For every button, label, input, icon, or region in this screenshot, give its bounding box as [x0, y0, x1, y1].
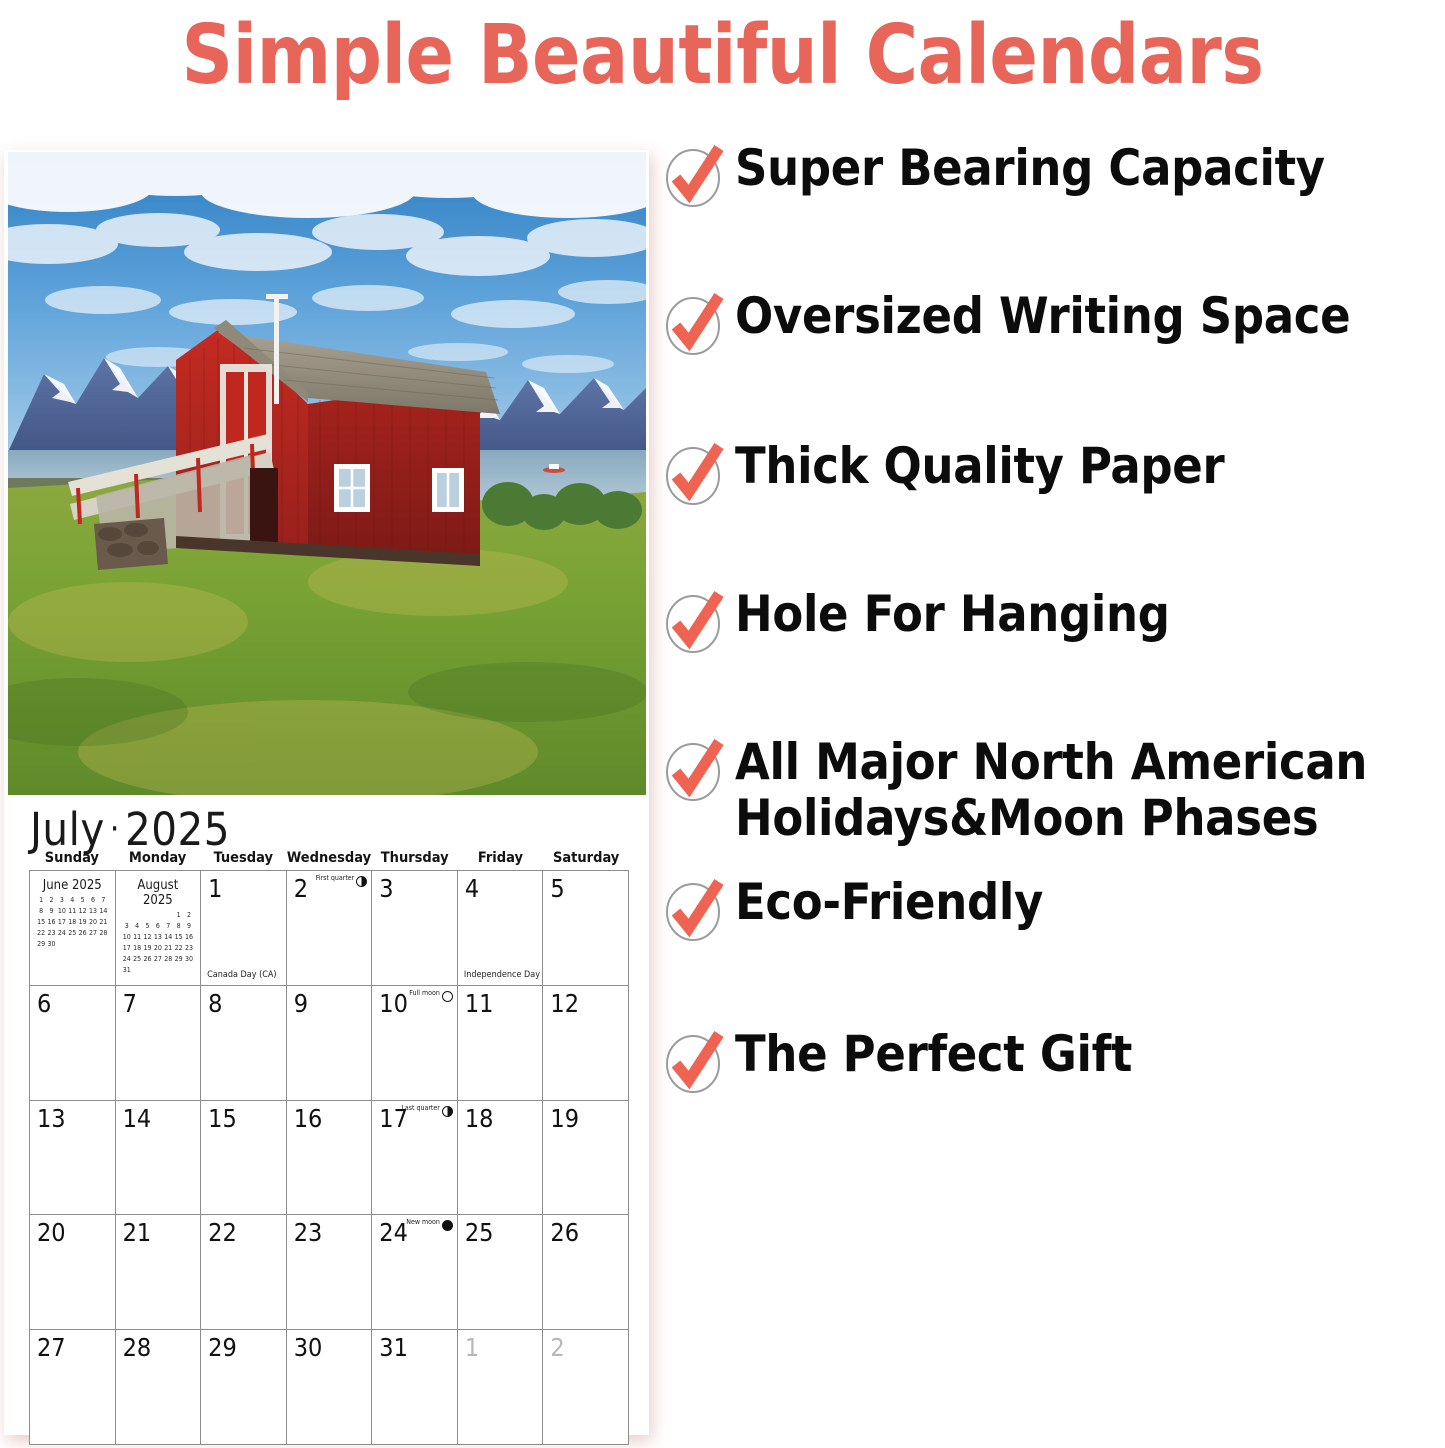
check-circle-icon [663, 878, 725, 942]
mini-day: 7 [98, 896, 108, 904]
calendar-day-cell[interactable]: 13 [30, 1101, 116, 1216]
mini-day: 24 [122, 955, 132, 963]
weekday-header-row: SundayMondayTuesdayWednesdayThursdayFrid… [29, 850, 629, 867]
moon-phase-marker: Last quarter [401, 1103, 452, 1117]
day-number: 26 [550, 1218, 579, 1247]
check-circle-icon [663, 738, 725, 802]
mini-day: 15 [36, 918, 46, 926]
feature-item: All Major North American Holidays&Moon P… [663, 734, 1445, 846]
feature-label: All Major North American Holidays&Moon P… [725, 734, 1367, 846]
calendar-day-cell[interactable]: 7 [116, 986, 202, 1101]
day-number: 5 [550, 874, 564, 903]
mini-day: 18 [67, 918, 77, 926]
moon-new-icon [442, 1220, 453, 1231]
mini-day: 28 [98, 929, 108, 937]
moon-phase-label: Last quarter [401, 1103, 439, 1112]
calendar-mini-cell[interactable]: August 2025 1234567891011121314151617181… [116, 871, 202, 986]
calendar-day-cell[interactable]: 9 [287, 986, 373, 1101]
mini-day: 10 [122, 933, 132, 941]
mini-day: 27 [88, 929, 98, 937]
calendar-day-cell[interactable]: 5 [543, 871, 629, 986]
day-number: 9 [294, 989, 308, 1018]
feature-label: Hole For Hanging [725, 586, 1170, 642]
mini-day: 13 [88, 907, 98, 915]
weekday-label-sunday: Sunday [29, 850, 115, 867]
mini-day: 14 [98, 907, 108, 915]
weekday-label-tuesday: Tuesday [200, 850, 286, 867]
day-number: 16 [294, 1104, 323, 1133]
day-number: 31 [379, 1333, 408, 1362]
mini-day: 4 [67, 896, 77, 904]
calendar-grid: June 20251234567891011121314151617181920… [29, 870, 629, 1445]
mini-blank [132, 911, 142, 919]
feature-list: Super Bearing CapacityOversized Writing … [663, 140, 1445, 1094]
check-circle-icon [663, 590, 725, 654]
mini-day: 15 [173, 933, 183, 941]
calendar-day-cell[interactable]: 4Independence Day [458, 871, 544, 986]
mini-day: 9 [184, 922, 194, 930]
day-number: 4 [465, 874, 479, 903]
calendar-day-cell[interactable]: 19 [543, 1101, 629, 1216]
calendar-day-cell[interactable]: 1Canada Day (CA) [201, 871, 287, 986]
calendar-day-cell[interactable]: 2 [543, 1330, 629, 1445]
calendar-day-cell[interactable]: 14 [116, 1101, 202, 1216]
day-number: 15 [208, 1104, 237, 1133]
calendar-mini-cell[interactable]: June 20251234567891011121314151617181920… [30, 871, 116, 986]
day-number: 25 [465, 1218, 494, 1247]
day-number: 20 [37, 1218, 66, 1247]
calendar-day-cell[interactable]: 26 [543, 1215, 629, 1330]
mini-month-title: August 2025 [122, 878, 195, 908]
weekday-label-saturday: Saturday [543, 850, 629, 867]
mini-day: 6 [88, 896, 98, 904]
day-number: 10 [379, 989, 408, 1018]
mini-month-title: June 2025 [36, 878, 109, 893]
calendar-day-cell[interactable]: 27 [30, 1330, 116, 1445]
calendar-day-cell[interactable]: 15 [201, 1101, 287, 1216]
day-number: 11 [465, 989, 494, 1018]
mini-day: 10 [57, 907, 67, 915]
mini-day: 5 [77, 896, 87, 904]
mini-day: 20 [153, 944, 163, 952]
mini-day: 23 [184, 944, 194, 952]
day-number: 29 [208, 1333, 237, 1362]
feature-item: The Perfect Gift [663, 1026, 1445, 1094]
mini-blank [122, 911, 132, 919]
feature-item: Hole For Hanging [663, 586, 1445, 654]
moon-full-icon [442, 991, 453, 1002]
weekday-label-wednesday: Wednesday [286, 850, 372, 867]
feature-label: Thick Quality Paper [725, 438, 1224, 494]
mini-day: 11 [67, 907, 77, 915]
calendar-day-cell[interactable]: 6 [30, 986, 116, 1101]
mini-blank [142, 911, 152, 919]
mini-day: 14 [163, 933, 173, 941]
mini-day: 24 [57, 929, 67, 937]
day-number: 21 [123, 1218, 152, 1247]
feature-label: Oversized Writing Space [725, 288, 1350, 344]
year-label: 2025 [125, 803, 230, 856]
feature-item: Oversized Writing Space [663, 288, 1445, 356]
mini-day: 17 [122, 944, 132, 952]
calendar-preview-page: July·2025 SundayMondayTuesdayWednesdayTh… [4, 150, 649, 1435]
check-circle-icon [663, 144, 725, 208]
mini-month-calendar: August 2025 1234567891011121314151617181… [116, 871, 201, 974]
mini-day: 26 [142, 955, 152, 963]
mini-day: 29 [36, 940, 46, 948]
calendar-day-cell[interactable]: 31 [372, 1330, 458, 1445]
mini-day: 30 [46, 940, 56, 948]
check-circle-icon [663, 442, 725, 506]
calendar-day-cell[interactable]: 2First quarter [287, 871, 373, 986]
calendar-day-cell[interactable]: 8 [201, 986, 287, 1101]
calendar-day-cell[interactable]: 21 [116, 1215, 202, 1330]
calendar-day-cell[interactable]: 1 [458, 1330, 544, 1445]
feature-label: Super Bearing Capacity [725, 140, 1325, 196]
mini-day: 8 [36, 907, 46, 915]
day-number: 19 [550, 1104, 579, 1133]
moon-phase-marker: New moon [406, 1217, 453, 1231]
mini-day: 20 [88, 918, 98, 926]
mini-day: 16 [184, 933, 194, 941]
weekday-label-monday: Monday [115, 850, 201, 867]
mini-day: 18 [132, 944, 142, 952]
mini-day: 22 [36, 929, 46, 937]
feature-item: Thick Quality Paper [663, 438, 1445, 506]
calendar-day-cell[interactable]: 10Full moon [372, 986, 458, 1101]
page-title: Simple Beautiful Calendars [22, 4, 1424, 108]
mini-day: 3 [122, 922, 132, 930]
feature-label: The Perfect Gift [725, 1026, 1132, 1082]
calendar-day-cell[interactable]: 18 [458, 1101, 544, 1216]
title-separator: · [105, 809, 125, 849]
holiday-label: Independence Day [464, 970, 540, 981]
day-number: 14 [123, 1104, 152, 1133]
mini-day: 2 [46, 896, 56, 904]
calendar-day-cell[interactable]: 29 [201, 1330, 287, 1445]
feature-item: Eco-Friendly [663, 874, 1445, 942]
calendar-day-cell[interactable]: 28 [116, 1330, 202, 1445]
mini-day: 25 [67, 929, 77, 937]
mini-day: 4 [132, 922, 142, 930]
mini-day: 6 [153, 922, 163, 930]
day-number: 28 [123, 1333, 152, 1362]
mini-day: 1 [173, 911, 183, 919]
day-number: 22 [208, 1218, 237, 1247]
mini-day: 11 [132, 933, 142, 941]
calendar-photo [8, 152, 646, 795]
calendar-day-cell[interactable]: 23 [287, 1215, 373, 1330]
mini-day: 25 [132, 955, 142, 963]
mini-day: 13 [153, 933, 163, 941]
calendar-day-cell[interactable]: 30 [287, 1330, 373, 1445]
calendar-day-cell[interactable]: 25 [458, 1215, 544, 1330]
day-number: 30 [294, 1333, 323, 1362]
mini-day: 5 [142, 922, 152, 930]
mini-day: 19 [142, 944, 152, 952]
calendar-day-cell[interactable]: 20 [30, 1215, 116, 1330]
feature-item: Super Bearing Capacity [663, 140, 1445, 208]
mini-day: 7 [163, 922, 173, 930]
mini-day: 9 [46, 907, 56, 915]
check-circle-icon [663, 1030, 725, 1094]
day-number: 7 [123, 989, 137, 1018]
day-number: 24 [379, 1218, 408, 1247]
day-number: 23 [294, 1218, 323, 1247]
month-name: July [30, 803, 105, 856]
moon-phase-label: First quarter [316, 873, 355, 882]
product-feature-graphic: Simple Beautiful Calendars [0, 0, 1445, 1448]
day-number: 27 [37, 1333, 66, 1362]
mini-day: 12 [77, 907, 87, 915]
moon-phase-marker: First quarter [316, 873, 368, 887]
moon-phase-label: Full moon [409, 988, 440, 997]
mini-blank [153, 911, 163, 919]
mini-day: 30 [184, 955, 194, 963]
mini-day: 28 [163, 955, 173, 963]
weekday-label-thursday: Thursday [372, 850, 458, 867]
calendar-day-cell[interactable]: 24New moon [372, 1215, 458, 1330]
mini-day: 27 [153, 955, 163, 963]
moon-last-icon [442, 1106, 453, 1117]
day-number: 2 [550, 1333, 564, 1362]
day-number: 8 [208, 989, 222, 1018]
day-number: 3 [379, 874, 393, 903]
mini-day: 2 [184, 911, 194, 919]
calendar-day-cell[interactable]: 22 [201, 1215, 287, 1330]
day-number: 1 [208, 874, 222, 903]
moon-phase-label: New moon [406, 1217, 440, 1226]
mini-day: 19 [77, 918, 87, 926]
calendar-day-cell[interactable]: 17Last quarter [372, 1101, 458, 1216]
calendar-day-cell[interactable]: 16 [287, 1101, 373, 1216]
day-number: 2 [294, 874, 308, 903]
calendar-month-title: July·2025 [30, 804, 230, 855]
day-number: 6 [37, 989, 51, 1018]
moon-phase-marker: Full moon [409, 988, 453, 1002]
mini-day: 17 [57, 918, 67, 926]
calendar-day-cell[interactable]: 3 [372, 871, 458, 986]
mini-day: 16 [46, 918, 56, 926]
mini-day: 22 [173, 944, 183, 952]
mini-day: 29 [173, 955, 183, 963]
mini-day: 8 [173, 922, 183, 930]
day-number: 13 [37, 1104, 66, 1133]
calendar-day-cell[interactable]: 12 [543, 986, 629, 1101]
holiday-label: Canada Day (CA) [207, 970, 276, 981]
weekday-label-friday: Friday [458, 850, 544, 867]
mini-day: 21 [163, 944, 173, 952]
mini-day: 26 [77, 929, 87, 937]
day-number: 12 [550, 989, 579, 1018]
mini-day: 23 [46, 929, 56, 937]
day-number: 1 [465, 1333, 479, 1362]
mini-month-grid: 1234567891011121314151617181920212223242… [36, 896, 109, 948]
mini-day: 12 [142, 933, 152, 941]
mini-blank [163, 911, 173, 919]
day-number: 18 [465, 1104, 494, 1133]
mini-day: 1 [36, 896, 46, 904]
mini-day: 21 [98, 918, 108, 926]
check-circle-icon [663, 292, 725, 356]
mini-day: 31 [122, 966, 132, 974]
feature-label: Eco-Friendly [725, 874, 1043, 930]
calendar-day-cell[interactable]: 11 [458, 986, 544, 1101]
mini-day: 3 [57, 896, 67, 904]
mini-month-grid: 1234567891011121314151617181920212223242… [122, 911, 195, 974]
moon-first-icon [356, 876, 367, 887]
mini-month-calendar: June 20251234567891011121314151617181920… [30, 871, 115, 948]
